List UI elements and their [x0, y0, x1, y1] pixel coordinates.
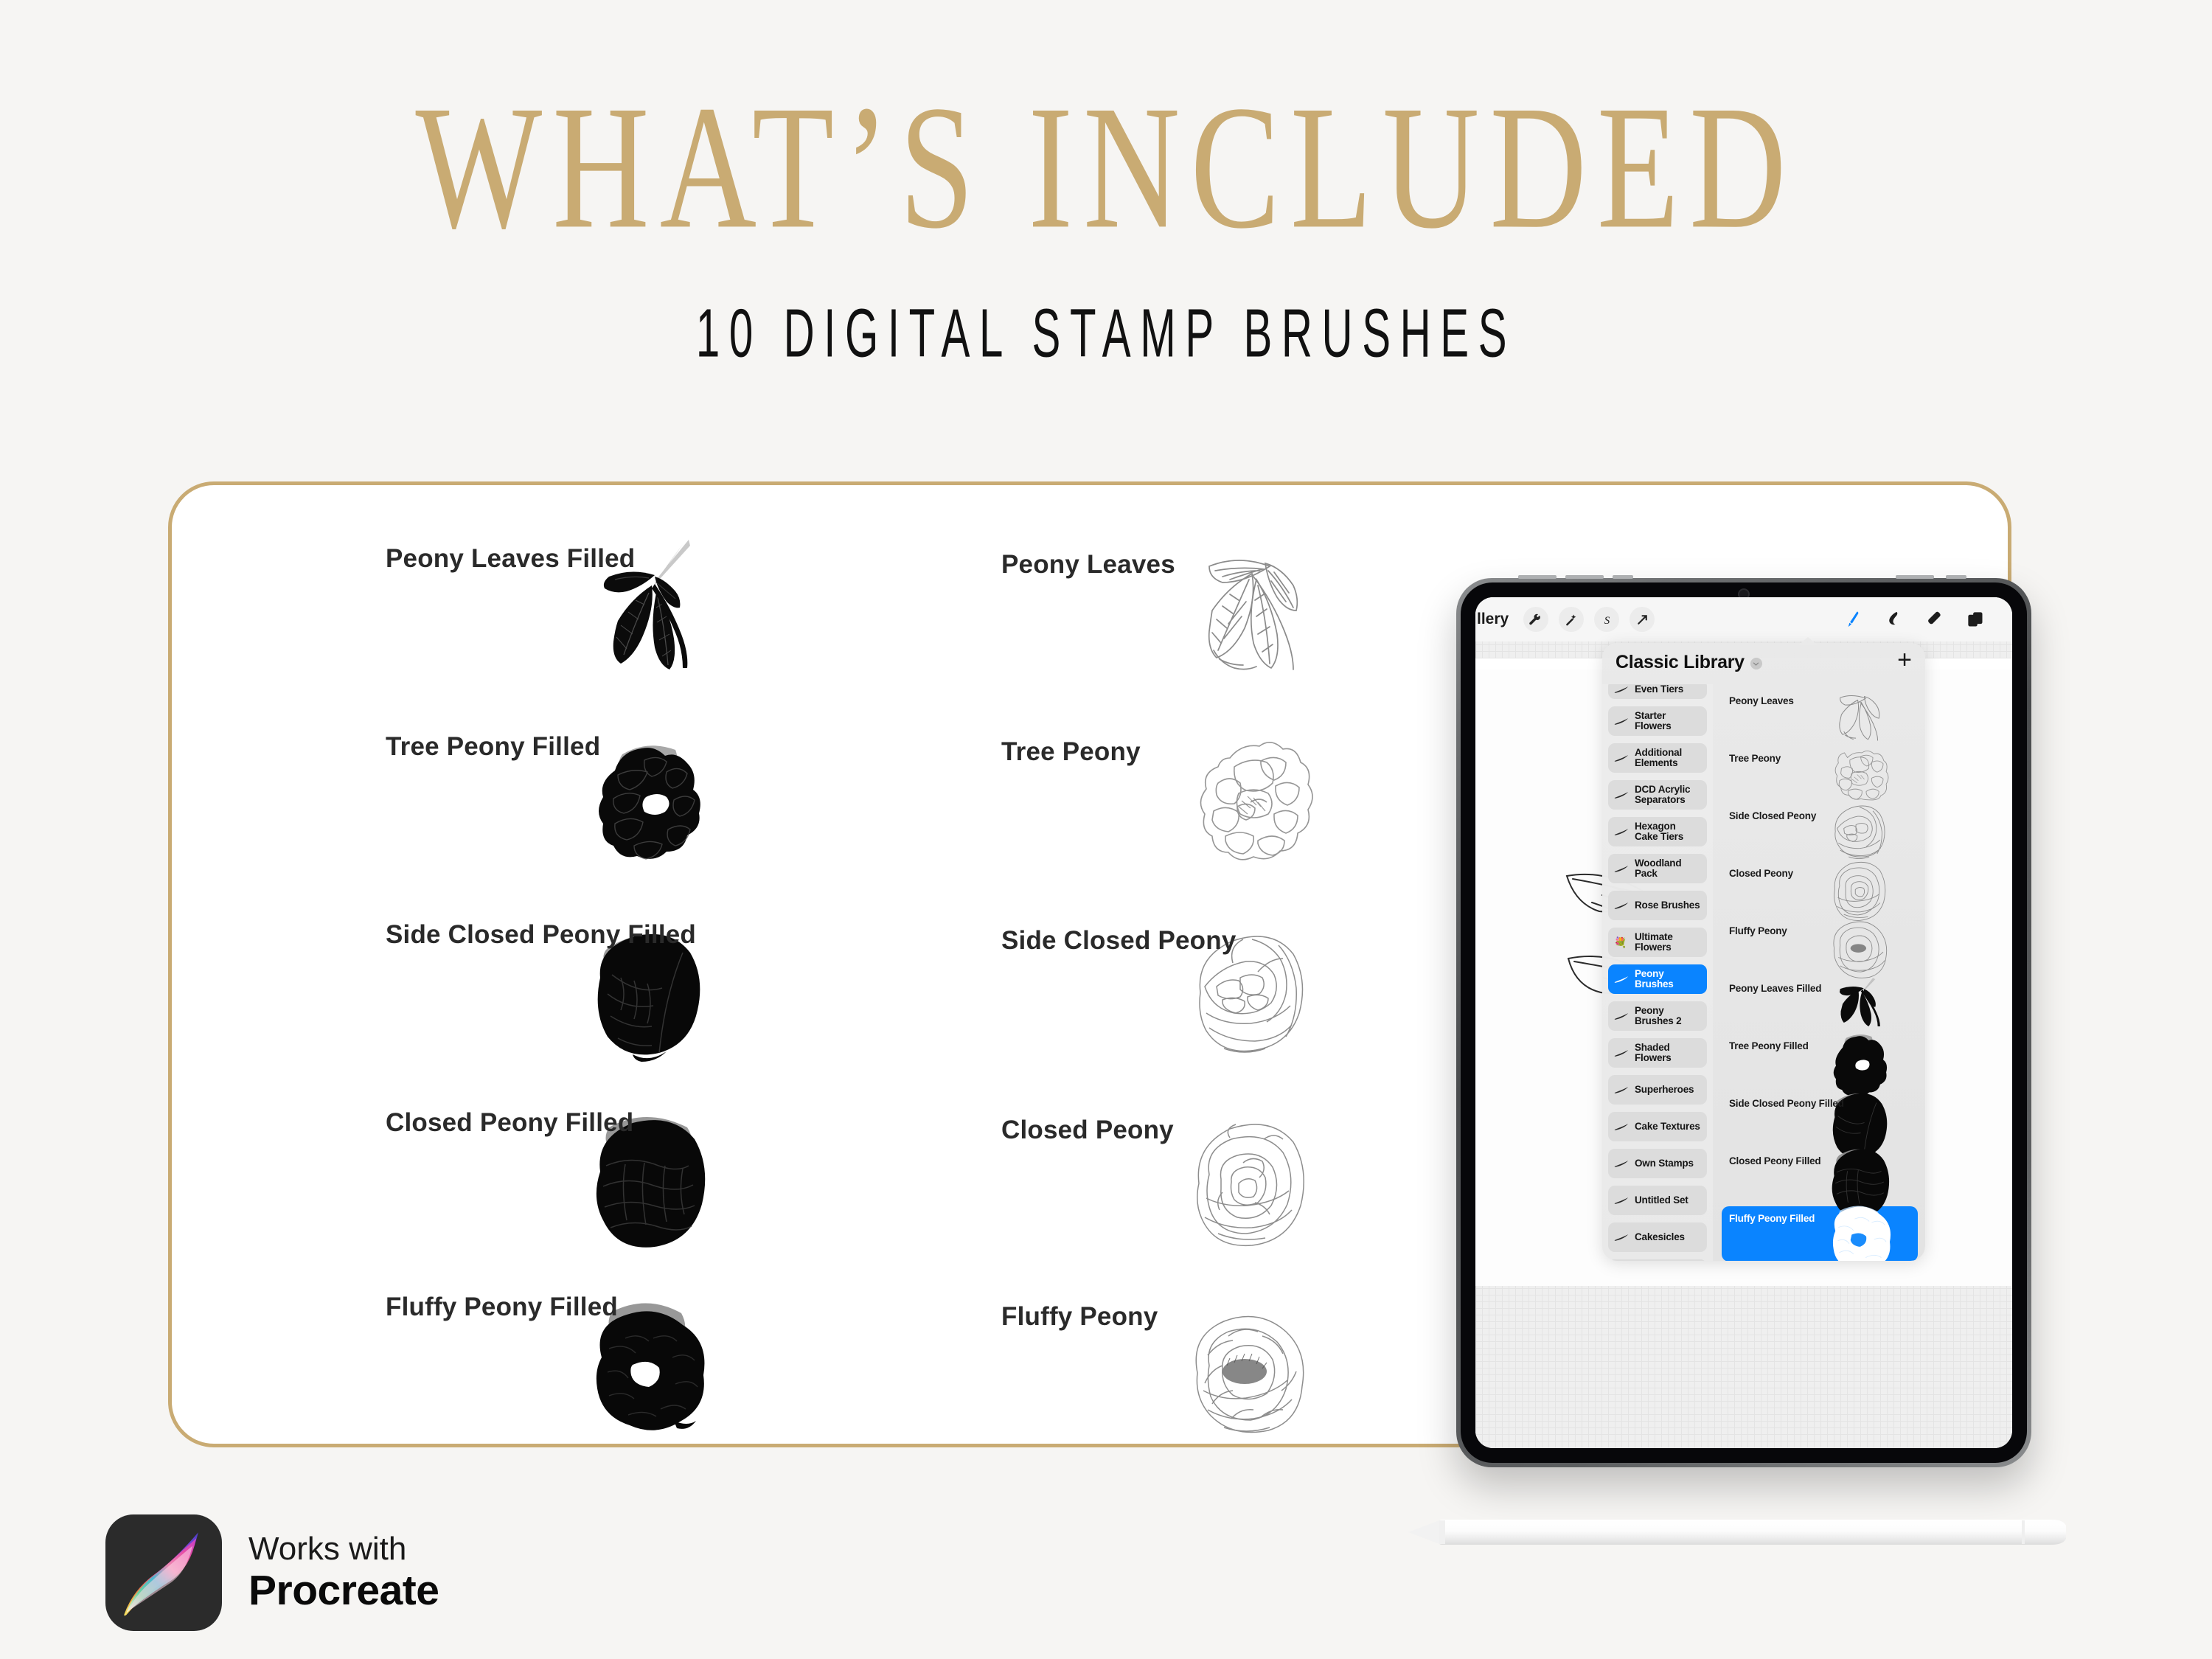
magic-wand-icon[interactable]: [1559, 607, 1584, 632]
brush-name: Tree Peony: [1729, 753, 1781, 764]
brush-set-label: Cake Textures: [1635, 1121, 1700, 1132]
brush-stroke-icon: [1614, 901, 1630, 911]
brush-stroke-icon: [1614, 1196, 1630, 1206]
brush-showcase-grid: Peony Leaves Filled: [172, 485, 1425, 1444]
ipad-antenna: [1946, 575, 1966, 579]
brush-set-item[interactable]: Own Stamps: [1608, 1149, 1707, 1178]
procreate-label: Procreate: [248, 1568, 439, 1615]
bouquet-emoji-icon: 💐: [1614, 937, 1630, 947]
smudge-icon[interactable]: [1885, 610, 1905, 630]
page-title: WHAT’S INCLUDED: [0, 80, 2212, 257]
brush-list-item[interactable]: Closed Peony Filled: [1722, 1149, 1918, 1204]
side-closed-peony-outline-thumb: [1829, 801, 1890, 860]
brush-label: Closed Peony Filled: [386, 1108, 633, 1138]
brush-label: Tree Peony Filled: [386, 732, 600, 762]
fluffy-peony-filled-thumb: [1829, 1203, 1890, 1261]
brush-list-item[interactable]: Peony Leaves Filled: [1722, 976, 1918, 1032]
brush-showcase-item: Closed Peony: [1001, 1116, 1473, 1306]
procreate-logo-icon: [105, 1514, 222, 1631]
brush-label: Peony Leaves: [1001, 550, 1175, 580]
brush-set-item[interactable]: Starter Flowers: [1608, 706, 1707, 736]
brush-stroke-icon: [1614, 717, 1630, 726]
ipad-bezel: llery S: [1461, 582, 2027, 1463]
brush-stroke-icon: [1614, 1233, 1630, 1242]
brush-list-item[interactable]: Tree Peony Filled: [1722, 1034, 1918, 1089]
brush-label: Peony Leaves Filled: [386, 544, 635, 574]
brush-set-label: Superheroes: [1635, 1085, 1694, 1095]
brush-list-item[interactable]: Peony Leaves: [1722, 689, 1918, 744]
brush-showcase-item: Tree Peony Filled: [386, 732, 858, 922]
brush-set-label: Shaded Flowers: [1635, 1043, 1701, 1064]
brush-label: Closed Peony: [1001, 1116, 1174, 1145]
brush-showcase-item: Side Closed Peony: [1001, 926, 1473, 1116]
closed-peony-outline-thumb: [1829, 858, 1890, 917]
brush-stroke-icon: [1614, 1048, 1630, 1058]
brush-label: Fluffy Peony Filled: [386, 1293, 618, 1322]
brush-showcase-item: Peony Leaves Filled: [386, 544, 858, 734]
brush-set-item[interactable]: 💐 Ultimate Flowers: [1608, 928, 1707, 957]
brush-set-item[interactable]: Hexagon Cake Tiers: [1608, 817, 1707, 846]
brush-set-label: Even Tiers: [1635, 684, 1683, 695]
procreate-toolbar: llery S: [1475, 597, 2012, 641]
brush-set-item[interactable]: 😍 😍OTHERS😍: [1608, 1259, 1707, 1261]
brush-list-item-fluffy-peony-filled[interactable]: Fluffy Peony Filled: [1722, 1206, 1918, 1261]
brush-stroke-icon: [1614, 790, 1630, 800]
brush-panel-arrow: [1798, 637, 1818, 645]
brush-label: Side Closed Peony Filled: [386, 920, 696, 950]
brush-set-label: Hexagon Cake Tiers: [1635, 821, 1701, 843]
brush-set-item[interactable]: Additional Elements: [1608, 743, 1707, 773]
toolbar-left-group: llery S: [1486, 607, 1655, 632]
brush-set-item[interactable]: Shaded Flowers: [1608, 1038, 1707, 1068]
brush-name: Tree Peony Filled: [1729, 1040, 1809, 1051]
brush-list-item[interactable]: Side Closed Peony Filled: [1722, 1091, 1918, 1147]
brush-list-item[interactable]: Closed Peony: [1722, 861, 1918, 917]
brush-set-label: Woodland Pack: [1635, 858, 1701, 880]
brush-library-panel: Classic Library + Even Tiers: [1602, 643, 1925, 1261]
brush-label: Fluffy Peony: [1001, 1302, 1158, 1332]
brush-set-item[interactable]: Rose Brushes: [1608, 891, 1707, 920]
brush-stroke-icon: [1614, 827, 1630, 837]
tree-peony-outline-thumb: [1829, 743, 1890, 802]
brush-name: Side Closed Peony Filled: [1729, 1098, 1844, 1109]
brush-panel-title: Classic Library: [1615, 652, 1745, 673]
brush-name: Closed Peony Filled: [1729, 1155, 1820, 1166]
fluffy-peony-outline-thumb: [1829, 916, 1890, 975]
peony-leaves-outline-thumb: [1829, 686, 1890, 745]
brush-stroke-icon: [1614, 1159, 1630, 1169]
ipad-antenna: [1518, 575, 1557, 579]
brush-set-label: DCD Acrylic Separators: [1635, 785, 1701, 806]
chevron-down-icon[interactable]: [1750, 658, 1762, 669]
brush-set-item[interactable]: Superheroes: [1608, 1075, 1707, 1105]
brush-list-item[interactable]: Fluffy Peony: [1722, 919, 1918, 974]
brush-showcase-item: Side Closed Peony Filled: [386, 920, 858, 1110]
brush-name: Closed Peony: [1729, 868, 1793, 879]
brush-panel-header: Classic Library +: [1602, 643, 1925, 684]
works-with-procreate-badge: Works with Procreate: [105, 1514, 439, 1631]
brush-set-item[interactable]: Untitled Set: [1608, 1186, 1707, 1215]
paintbrush-icon[interactable]: [1844, 610, 1864, 630]
brush-set-label: Cakesicles: [1635, 1232, 1685, 1242]
brush-set-item-peony-brushes[interactable]: Peony Brushes: [1608, 964, 1707, 994]
svg-text:S: S: [1604, 614, 1610, 626]
ipad-device: llery S: [1456, 578, 2031, 1467]
brush-stroke-icon: [1614, 1012, 1630, 1021]
ipad-antenna: [1896, 575, 1934, 579]
brush-showcase-item: Closed Peony Filled: [386, 1108, 858, 1298]
brush-set-item[interactable]: Cake Textures: [1608, 1112, 1707, 1141]
brush-stroke-icon: [1614, 864, 1630, 874]
peony-leaves-filled-thumb: [1829, 973, 1890, 1032]
brush-showcase-item: Fluffy Peony Filled: [386, 1293, 858, 1483]
brush-name: Peony Leaves: [1729, 695, 1794, 706]
wrench-icon[interactable]: [1523, 607, 1548, 632]
brush-set-item[interactable]: Woodland Pack: [1608, 854, 1707, 883]
brush-set-label: Peony Brushes: [1635, 969, 1701, 990]
brush-name: Fluffy Peony: [1729, 925, 1787, 936]
footer-text-block: Works with Procreate: [248, 1531, 439, 1615]
brush-showcase-item: Fluffy Peony: [1001, 1302, 1473, 1492]
brush-set-item[interactable]: Cakesicles: [1608, 1222, 1707, 1252]
selection-s-icon[interactable]: S: [1594, 607, 1619, 632]
brush-list-item[interactable]: Side Closed Peony: [1722, 804, 1918, 859]
brush-set-label: Additional Elements: [1635, 748, 1701, 769]
closed-peony-filled-thumb: [1829, 1146, 1890, 1205]
gallery-button[interactable]: llery: [1477, 611, 1509, 628]
brush-set-label: Untitled Set: [1635, 1195, 1688, 1206]
brush-showcase-item: Peony Leaves: [1001, 550, 1473, 740]
brush-set-item[interactable]: Even Tiers: [1608, 684, 1707, 699]
brush-set-item[interactable]: Peony Brushes 2: [1608, 1001, 1707, 1031]
ipad-antenna: [1613, 575, 1633, 579]
side-closed-peony-filled-thumb: [1829, 1088, 1890, 1147]
eraser-icon[interactable]: [1925, 610, 1945, 630]
fluffy-peony-outline-art: [1141, 1280, 1344, 1466]
brush-set-list[interactable]: Even Tiers Starter Flowers: [1602, 684, 1713, 1261]
brush-stroke-icon: [1614, 685, 1630, 695]
brush-list[interactable]: Peony Leaves: [1713, 684, 1925, 1261]
ipad-screen: llery S: [1475, 597, 2012, 1448]
brush-name: Side Closed Peony: [1729, 810, 1816, 821]
add-brush-button[interactable]: +: [1897, 652, 1912, 668]
brush-label: Tree Peony: [1001, 737, 1141, 767]
brush-stroke-icon: [1614, 754, 1630, 763]
brush-label: Side Closed Peony: [1001, 926, 1237, 956]
brush-stroke-icon: [1614, 975, 1630, 984]
brush-stroke-icon: [1614, 1085, 1630, 1095]
page-subtitle: 10 DIGITAL STAMP BRUSHES: [33, 293, 2179, 372]
brush-panel-body: Even Tiers Starter Flowers: [1602, 684, 1925, 1261]
brush-name: Peony Leaves Filled: [1729, 983, 1821, 994]
brush-set-label: Own Stamps: [1635, 1158, 1694, 1169]
toolbar-right-group: [1844, 610, 2002, 630]
tree-peony-outline-art: [1141, 715, 1344, 901]
brush-name: Fluffy Peony Filled: [1729, 1213, 1815, 1224]
brush-set-label: Ultimate Flowers: [1635, 932, 1701, 953]
works-with-label: Works with: [248, 1531, 439, 1568]
apple-pencil: [1388, 1515, 2082, 1549]
brush-showcase-item: Tree Peony: [1001, 737, 1473, 928]
layers-icon[interactable]: [1966, 610, 1986, 630]
transform-arrow-icon[interactable]: [1630, 607, 1655, 632]
brush-set-label: Starter Flowers: [1635, 711, 1701, 732]
brush-list-item[interactable]: Tree Peony: [1722, 746, 1918, 801]
brush-set-label: Peony Brushes 2: [1635, 1006, 1701, 1027]
ipad-antenna: [1565, 575, 1604, 579]
brush-stroke-icon: [1614, 1122, 1630, 1132]
tree-peony-filled-thumb: [1829, 1031, 1890, 1090]
brush-set-item[interactable]: DCD Acrylic Separators: [1608, 780, 1707, 810]
brush-set-label: Rose Brushes: [1635, 900, 1700, 911]
